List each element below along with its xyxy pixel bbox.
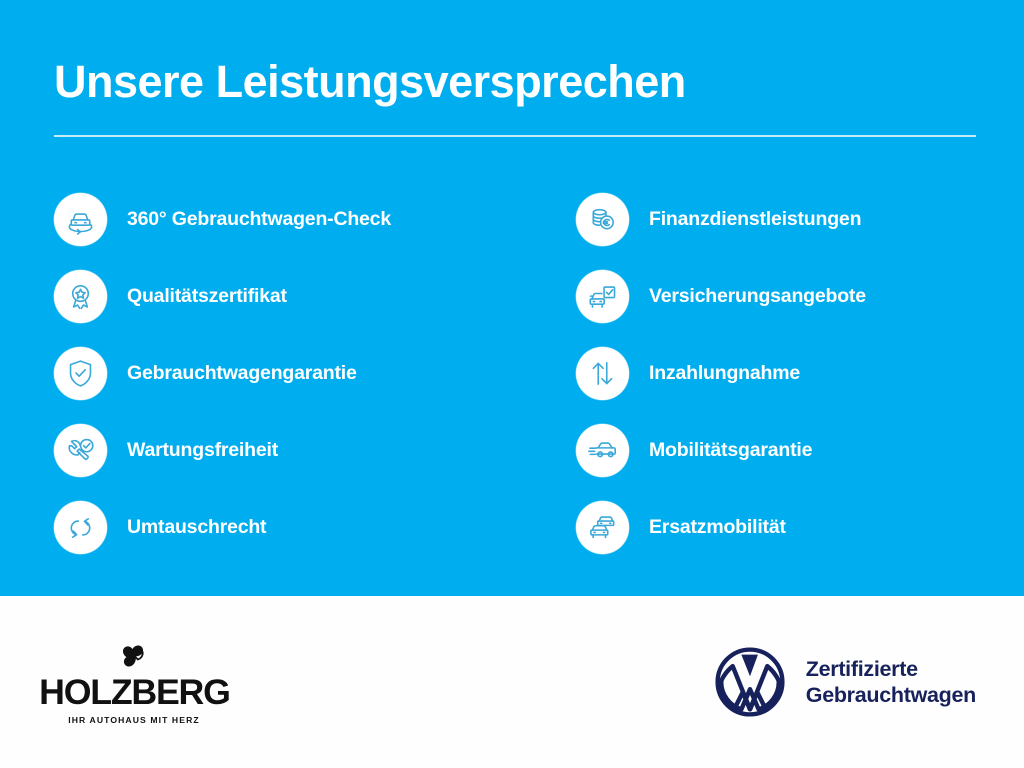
shield-check-icon — [54, 347, 107, 400]
car-checkbox-icon — [576, 270, 629, 323]
car-motion-icon — [576, 424, 629, 477]
feature-item-ersatzmobilitaet[interactable]: Ersatzmobilität — [574, 489, 974, 566]
feature-item-qualitaetszertifikat[interactable]: Qualitätszertifikat — [54, 258, 574, 335]
dealer-name: HOLZBERG — [39, 675, 230, 710]
hero-panel: Unsere Leistungsversprechen 360° Gebrauc… — [0, 0, 1024, 596]
page-title: Unsere Leistungsversprechen — [54, 52, 974, 105]
footer-bar: HOLZBERG IHR AUTOHAUS MIT HERZ Zertifizi… — [0, 596, 1024, 768]
vw-logo-icon — [714, 646, 786, 718]
brand-logo-text: Zertifizierte Gebrauchtwagen — [806, 656, 976, 708]
feature-label: Finanzdienstleistungen — [649, 208, 861, 231]
brand-logo-line2: Gebrauchtwagen — [806, 682, 976, 708]
feature-item-inzahlungnahme[interactable]: Inzahlungnahme — [574, 335, 974, 412]
title-divider — [54, 135, 976, 137]
exchange-arrows-icon — [54, 501, 107, 554]
feature-item-mobilitaetsgarantie[interactable]: Mobilitätsgarantie — [574, 412, 974, 489]
feature-label: Inzahlungnahme — [649, 362, 800, 385]
wrench-check-icon — [54, 424, 107, 477]
coins-euro-icon — [576, 193, 629, 246]
feature-label: Gebrauchtwagengarantie — [127, 362, 357, 385]
up-down-arrows-icon — [576, 347, 629, 400]
promise-slide: N Unsere Leistungsversprechen 360° Gebra… — [0, 0, 1024, 768]
feature-label: Qualitätszertifikat — [127, 285, 287, 308]
award-medal-icon — [54, 270, 107, 323]
brand-logo[interactable]: Zertifizierte Gebrauchtwagen — [714, 646, 976, 718]
dealer-tagline: IHR AUTOHAUS MIT HERZ — [68, 715, 199, 725]
feature-item-gebrauchtwagengarantie[interactable]: Gebrauchtwagengarantie — [54, 335, 574, 412]
car-360-check-icon — [54, 193, 107, 246]
feature-label: Wartungsfreiheit — [127, 439, 278, 462]
feature-item-umtauschrecht[interactable]: Umtauschrecht — [54, 489, 574, 566]
dealer-logo[interactable]: HOLZBERG IHR AUTOHAUS MIT HERZ — [54, 639, 214, 725]
four-leaf-clover-hearts-icon — [117, 639, 151, 673]
feature-label: 360° Gebrauchtwagen-Check — [127, 208, 391, 231]
feature-label: Umtauschrecht — [127, 516, 266, 539]
feature-item-versicherungsangebote[interactable]: Versicherungsangebote — [574, 258, 974, 335]
feature-label: Mobilitätsgarantie — [649, 439, 812, 462]
two-cars-icon — [576, 501, 629, 554]
feature-item-finanzdienstleistungen[interactable]: Finanzdienstleistungen — [574, 181, 974, 258]
feature-item-gebrauchtwagen-check[interactable]: 360° Gebrauchtwagen-Check — [54, 181, 574, 258]
feature-label: Versicherungsangebote — [649, 285, 866, 308]
feature-item-wartungsfreiheit[interactable]: Wartungsfreiheit — [54, 412, 574, 489]
feature-label: Ersatzmobilität — [649, 516, 786, 539]
brand-logo-line1: Zertifizierte — [806, 656, 976, 682]
features-grid: 360° Gebrauchtwagen-Check Finanzd — [54, 181, 974, 566]
